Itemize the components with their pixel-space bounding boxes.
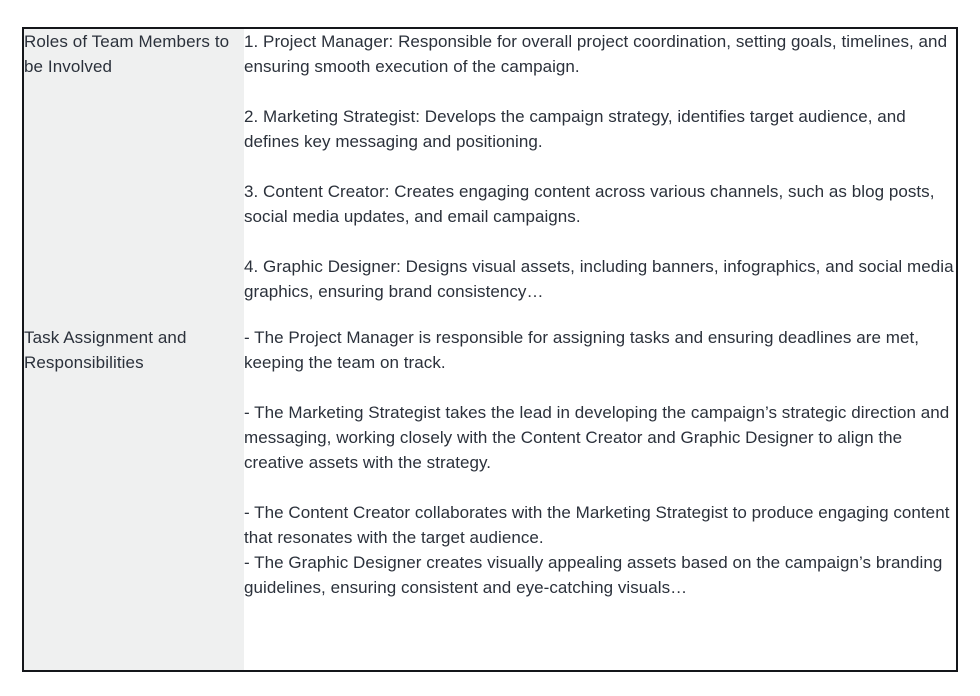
paragraph: 1. Project Manager: Responsible for over…: [244, 29, 956, 79]
row-label-text: Roles of Team Members to be Involved: [24, 29, 244, 79]
row-body-text: 1. Project Manager: Responsible for over…: [244, 29, 956, 304]
document-table-container: Roles of Team Members to be Involved 1. …: [22, 27, 958, 672]
row-body-cell-tasks: - The Project Manager is responsible for…: [244, 325, 956, 670]
row-body-text: - The Project Manager is responsible for…: [244, 325, 956, 600]
paragraph: - The Graphic Designer creates visually …: [244, 550, 956, 600]
row-body-cell-roles: 1. Project Manager: Responsible for over…: [244, 29, 956, 325]
paragraph: 2. Marketing Strategist: Develops the ca…: [244, 104, 956, 154]
table-row: Task Assignment and Responsibilities - T…: [24, 325, 956, 670]
row-label-cell-tasks: Task Assignment and Responsibilities: [24, 325, 244, 670]
paragraph: 3. Content Creator: Creates engaging con…: [244, 179, 956, 229]
row-label-text: Task Assignment and Responsibilities: [24, 325, 244, 375]
paragraph: - The Content Creator collaborates with …: [244, 500, 956, 550]
row-label-cell-roles: Roles of Team Members to be Involved: [24, 29, 244, 325]
table-row: Roles of Team Members to be Involved 1. …: [24, 29, 956, 325]
paragraph: - The Project Manager is responsible for…: [244, 325, 956, 375]
paragraph: 4. Graphic Designer: Designs visual asse…: [244, 254, 956, 304]
document-table: Roles of Team Members to be Involved 1. …: [24, 29, 956, 670]
paragraph: - The Marketing Strategist takes the lea…: [244, 400, 956, 475]
page-root: Roles of Team Members to be Involved 1. …: [0, 0, 980, 696]
